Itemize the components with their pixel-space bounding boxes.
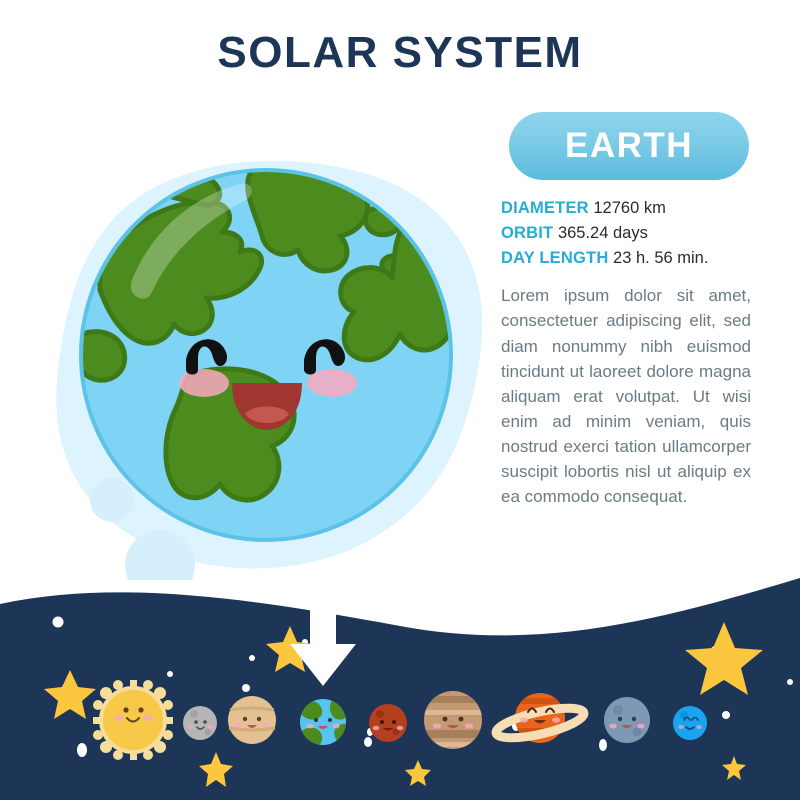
solar-system-infographic: SOLAR SYSTEM — [0, 0, 800, 800]
planet-uranus[interactable] — [604, 697, 650, 743]
planet-name-label: EARTH — [565, 126, 693, 166]
stat-value-diameter: 12760 km — [593, 199, 665, 217]
stat-label-diameter: DIAMETER — [501, 199, 589, 217]
space-band — [0, 560, 800, 800]
stat-value-day-length: 23 h. 56 min. — [613, 249, 708, 267]
cheek-right — [307, 369, 357, 397]
planet-sun[interactable] — [93, 680, 173, 760]
planet-description: Lorem ipsum dolor sit amet, consectetuer… — [501, 283, 751, 509]
sun-body — [103, 690, 163, 750]
planet-neptune[interactable] — [673, 706, 707, 740]
stat-row-orbit: ORBIT 365.24 days — [501, 221, 755, 246]
planet-mars[interactable] — [369, 704, 407, 742]
stat-label-orbit: ORBIT — [501, 224, 553, 242]
planet-jupiter[interactable] — [424, 691, 482, 749]
mercury-body — [183, 706, 217, 740]
earth-illustration — [40, 140, 490, 580]
stat-row-day-length: DAY LENGTH 23 h. 56 min. — [501, 246, 755, 271]
decorative-bubble-small — [90, 478, 134, 522]
page-title: SOLAR SYSTEM — [0, 28, 800, 78]
neptune-body — [673, 706, 707, 740]
stat-row-diameter: DIAMETER 12760 km — [501, 196, 755, 221]
venus-body — [228, 696, 276, 744]
cheek-left — [179, 369, 229, 397]
stat-value-orbit: 365.24 days — [558, 224, 648, 242]
uranus-body — [604, 697, 650, 743]
stat-label-day-length: DAY LENGTH — [501, 249, 608, 267]
mars-body — [369, 704, 407, 742]
planet-info-panel: EARTH DIAMETER 12760 km ORBIT 365.24 day… — [497, 112, 755, 527]
planet-mercury[interactable] — [183, 706, 217, 740]
planet-venus[interactable] — [228, 696, 276, 744]
planet-name-badge[interactable]: EARTH — [509, 112, 749, 180]
